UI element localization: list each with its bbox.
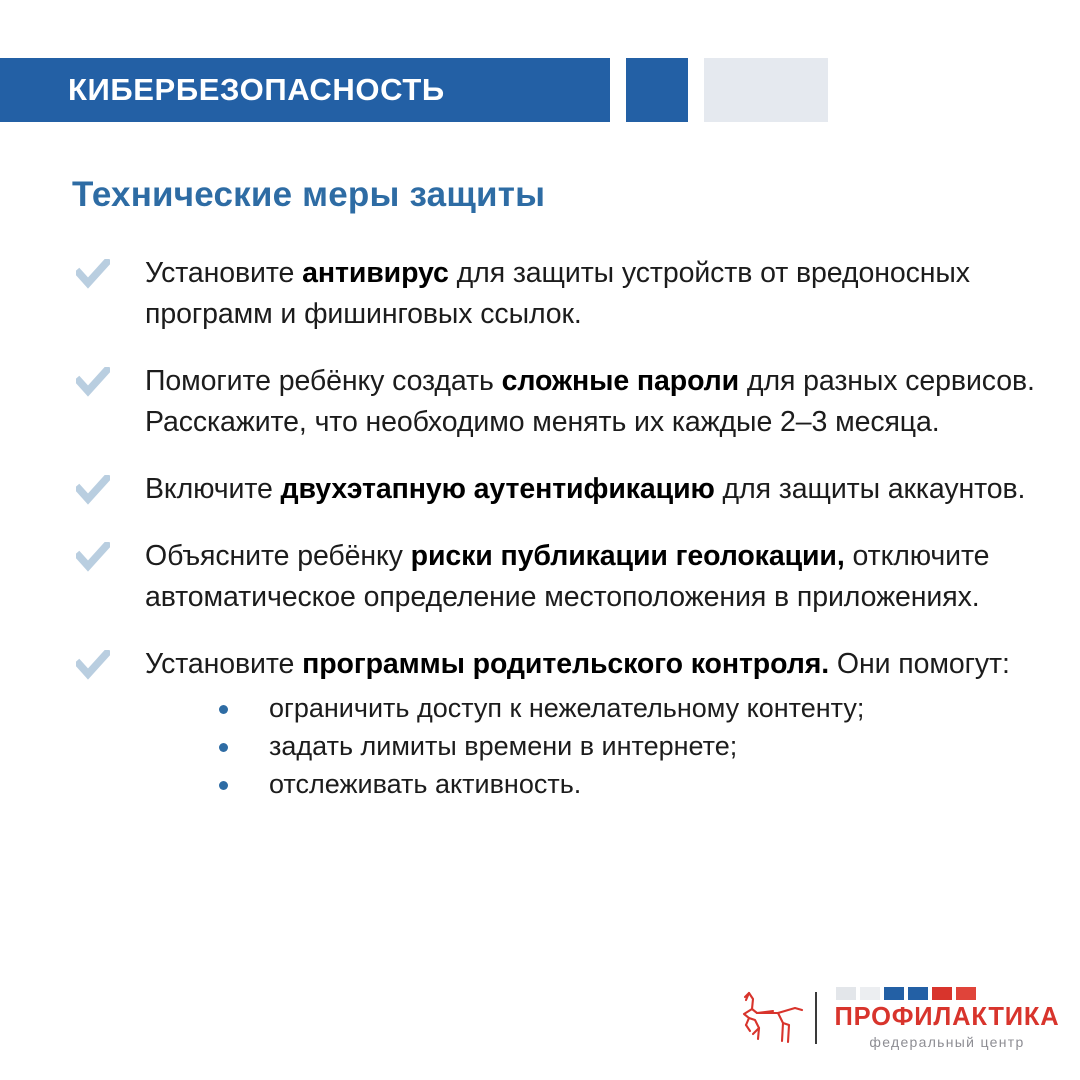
check-icon: [76, 259, 110, 289]
body-text: Установите: [145, 648, 302, 680]
sub-list-item-label: задать лимиты времени в интернете;: [269, 731, 737, 761]
bullet-dot-icon: [219, 781, 228, 790]
sub-list-item-label: ограничить доступ к нежелательному конте…: [269, 693, 864, 723]
header-accent-square-blue: [626, 58, 688, 122]
header-accent-square-grey-1: [704, 58, 766, 122]
logo-name: ПРОФИЛАКТИКА: [835, 1005, 1060, 1031]
logo-text-block: ПРОФИЛАКТИКА федеральный центр: [835, 987, 1060, 1050]
check-icon: [76, 650, 110, 680]
body-text: Помогите ребёнку создать: [145, 365, 502, 397]
flag-square-1: [836, 987, 856, 1000]
flag-square-4: [908, 987, 928, 1000]
recommendation-text: Включите двухэтапную аутентификацию для …: [145, 469, 1052, 510]
body-text: Включите: [145, 473, 281, 505]
emphasis-text: сложные пароли: [502, 365, 740, 397]
bullet-dot-icon: [219, 705, 228, 714]
header-band: КИБЕРБЕЗОПАСНОСТЬ: [0, 58, 1080, 122]
infographic-page: КИБЕРБЕЗОПАСНОСТЬ Технические меры защит…: [0, 0, 1080, 1080]
sub-list: ограничить доступ к нежелательному конте…: [145, 689, 1052, 803]
flag-squares: [835, 987, 1060, 1000]
body-text: Они помогут:: [829, 648, 1010, 680]
emphasis-text: риски публикации геолокации,: [411, 540, 845, 572]
check-icon: [76, 367, 110, 397]
body-text: Объясните ребёнку: [145, 540, 411, 572]
flag-square-2: [860, 987, 880, 1000]
page-title: Технические меры защиты: [72, 175, 545, 215]
emphasis-text: двухэтапную аутентификацию: [281, 473, 715, 505]
recommendation-text: Установите антивирус для защиты устройст…: [145, 253, 1052, 335]
sub-list-item-label: отслеживать активность.: [269, 769, 581, 799]
bullet-dot-icon: [219, 743, 228, 752]
sub-list-item: отслеживать активность.: [211, 765, 1052, 803]
body-text: Установите: [145, 257, 302, 289]
flag-square-3: [884, 987, 904, 1000]
header-title: КИБЕРБЕЗОПАСНОСТЬ: [0, 72, 445, 108]
logo-subtitle: федеральный центр: [835, 1035, 1060, 1049]
check-icon: [76, 475, 110, 505]
recommendation-item: Включите двухэтапную аутентификацию для …: [72, 469, 1052, 510]
logo-divider: [815, 992, 817, 1044]
header-accent-square-grey-2: [766, 58, 828, 122]
recommendation-item: Установите программы родительского контр…: [72, 644, 1052, 803]
sub-list-item: задать лимиты времени в интернете;: [211, 727, 1052, 765]
recommendation-item: Объясните ребёнку риски публикации геоло…: [72, 536, 1052, 618]
deer-icon: [733, 987, 805, 1049]
sub-list-item: ограничить доступ к нежелательному конте…: [211, 689, 1052, 727]
recommendation-text: Установите программы родительского контр…: [145, 644, 1052, 685]
flag-square-5: [932, 987, 952, 1000]
emphasis-text: антивирус: [302, 257, 449, 289]
recommendation-text: Помогите ребёнку создать сложные пароли …: [145, 361, 1052, 443]
footer-logo: ПРОФИЛАКТИКА федеральный центр: [733, 982, 1023, 1054]
header-bar: КИБЕРБЕЗОПАСНОСТЬ: [0, 58, 610, 122]
flag-square-6: [956, 987, 976, 1000]
body-text: для защиты аккаунтов.: [715, 473, 1026, 505]
recommendation-item: Помогите ребёнку создать сложные пароли …: [72, 361, 1052, 443]
recommendation-text: Объясните ребёнку риски публикации геоло…: [145, 536, 1052, 618]
recommendation-item: Установите антивирус для защиты устройст…: [72, 253, 1052, 335]
emphasis-text: программы родительского контроля.: [302, 648, 829, 680]
check-icon: [76, 542, 110, 572]
recommendation-list: Установите антивирус для защиты устройст…: [72, 253, 1052, 829]
